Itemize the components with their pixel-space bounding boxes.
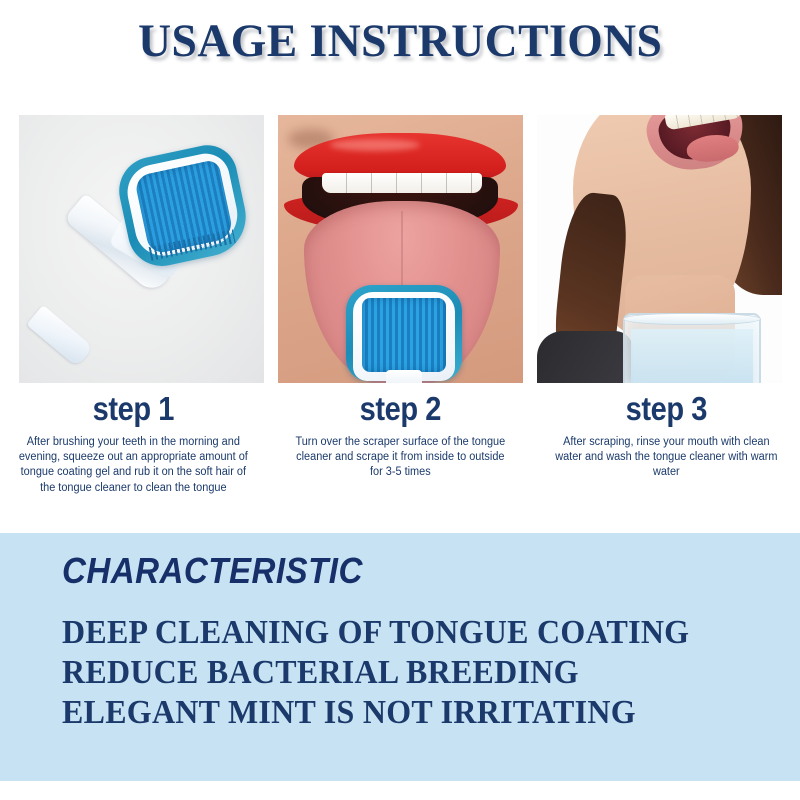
step-2-caption: step 2 Turn over the scraper surface of … — [267, 392, 534, 496]
cleaner-bristle-pad — [362, 298, 446, 372]
step-2-description: Turn over the scraper surface of the ton… — [283, 435, 517, 481]
page-title: USAGE INSTRUCTIONS — [138, 14, 662, 68]
step-image-row — [19, 115, 782, 383]
step-2-image — [278, 115, 523, 383]
characteristic-panel: CHARACTERISTIC DEEP CLEANING OF TONGUE C… — [0, 533, 800, 781]
step-3-image — [537, 115, 782, 383]
glass-rim — [623, 313, 761, 325]
tongue — [685, 133, 739, 164]
open-lips — [643, 115, 746, 174]
characteristic-feature-list: DEEP CLEANING OF TONGUE COATING REDUCE B… — [62, 613, 762, 733]
characteristic-heading: CHARACTERISTIC — [62, 550, 363, 592]
step-1-caption: step 1 After brushing your teeth in the … — [0, 392, 267, 496]
feature-line: ELEGANT MINT IS NOT IRRITATING — [62, 693, 720, 733]
feature-line: DEEP CLEANING OF TONGUE COATING — [62, 613, 720, 653]
page-header: USAGE INSTRUCTIONS — [0, 14, 800, 68]
step-3-label: step 3 — [558, 392, 775, 427]
step-1-label: step 1 — [25, 392, 242, 427]
step-3-description: After scraping, rinse your mouth with cl… — [549, 435, 783, 481]
step-1-description: After brushing your teeth in the morning… — [16, 435, 250, 497]
step-2-label: step 2 — [291, 392, 508, 427]
mouth-cavity — [656, 115, 733, 163]
cleaner-bristle-pad — [134, 159, 235, 255]
water-glass — [623, 313, 761, 383]
water-fill — [631, 329, 753, 383]
upper-teeth — [322, 173, 482, 193]
lip-highlight — [330, 139, 420, 151]
feature-line: REDUCE BACTERIAL BREEDING — [62, 653, 720, 693]
step-caption-row: step 1 After brushing your teeth in the … — [0, 392, 800, 496]
step-3-caption: step 3 After scraping, rinse your mouth … — [533, 392, 800, 496]
shoulder — [537, 331, 633, 383]
step-1-image — [19, 115, 264, 383]
upper-teeth — [664, 115, 742, 131]
cleaner-handle — [386, 370, 422, 383]
